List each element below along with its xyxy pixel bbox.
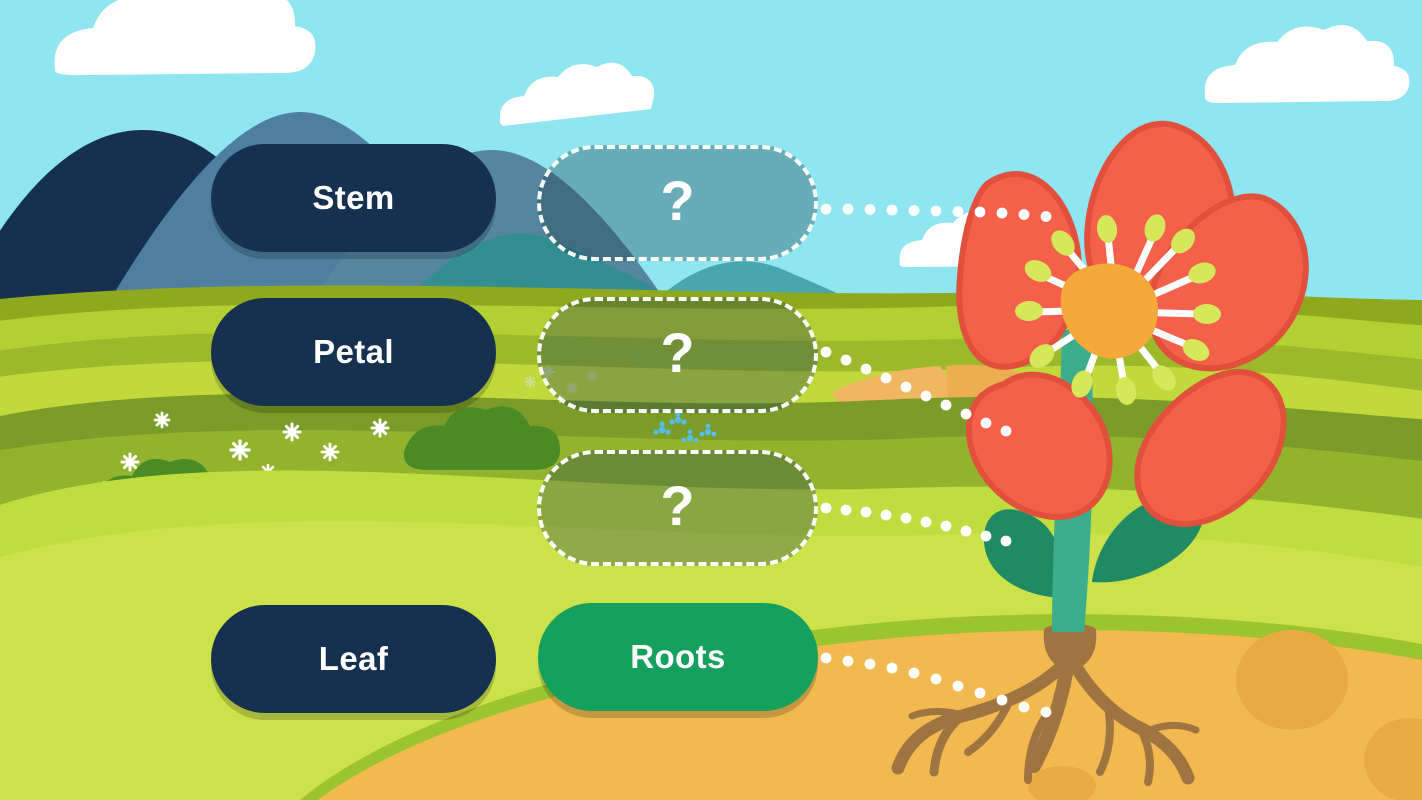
daisy [231,441,249,459]
word-button-label: Leaf [319,640,388,678]
word-button-label: Stem [312,179,394,217]
drop-slot-lower[interactable]: ? [537,450,818,566]
word-button-petal[interactable]: Petal [211,298,496,406]
question-mark-icon: ? [660,173,694,229]
question-mark-icon: ? [660,478,694,534]
daisy [284,424,300,440]
word-button-leaf[interactable]: Leaf [211,605,496,713]
daisy [322,444,338,460]
daisy-small [525,377,535,387]
soil-rock [1236,630,1348,730]
drop-slot-top[interactable]: ? [537,145,818,261]
daisy [155,413,169,427]
drop-slot-middle[interactable]: ? [537,297,818,413]
word-button-stem[interactable]: Stem [211,144,496,252]
daisy [122,454,138,470]
word-button-roots[interactable]: Roots [538,603,818,711]
daisy [372,420,388,436]
question-mark-icon: ? [660,325,694,381]
word-button-label: Petal [313,333,394,371]
word-button-label: Roots [630,638,726,676]
game-stage: ? ? ? Stem Petal Leaf Roots [0,0,1422,800]
